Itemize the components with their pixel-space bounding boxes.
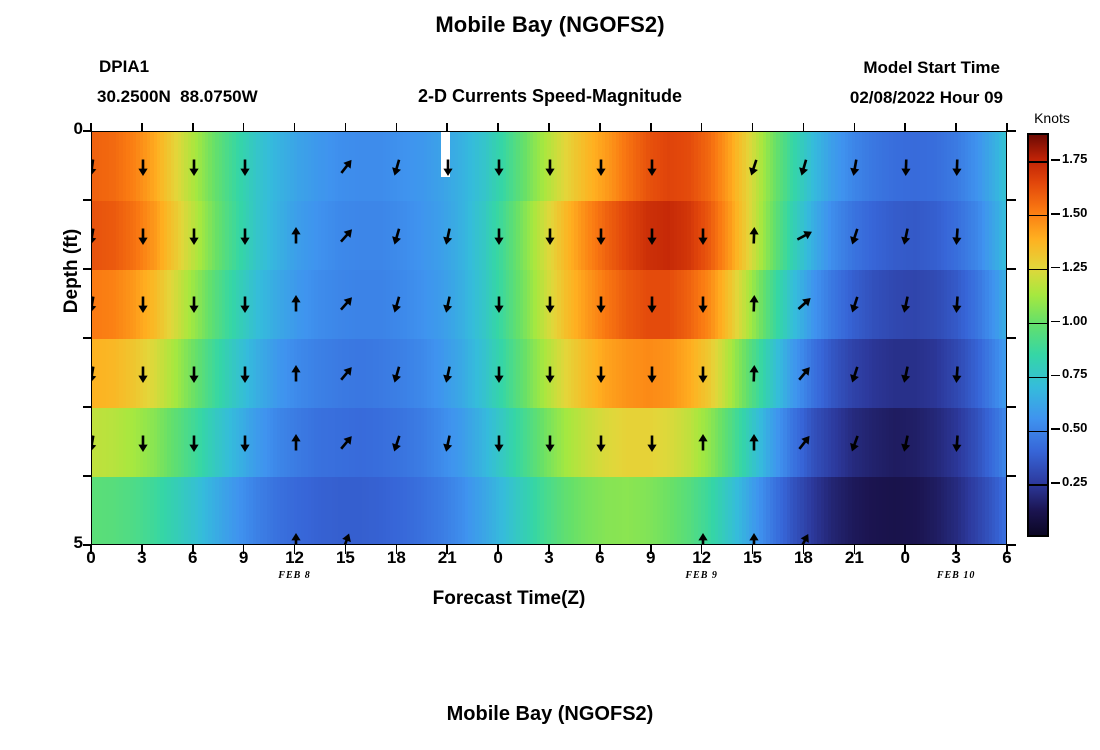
y-axis-minor-tick	[83, 337, 92, 339]
x-axis-tick-top	[243, 123, 245, 132]
x-axis-tick	[955, 545, 957, 554]
x-axis-tick	[752, 545, 754, 554]
colorbar-tick-label: 1.25	[1062, 259, 1100, 274]
colorbar-tick	[1051, 321, 1060, 323]
x-axis-tick-top	[904, 123, 906, 132]
x-axis-day-label: FEB 9	[657, 570, 747, 581]
x-axis-tick-top	[141, 123, 143, 132]
x-axis-tick-top	[446, 123, 448, 132]
x-axis-tick	[396, 545, 398, 554]
x-axis-tick-top	[599, 123, 601, 132]
x-axis-tick	[497, 545, 499, 554]
colorbar-tick-label: 0.50	[1062, 420, 1100, 435]
colorbar-separator	[1029, 484, 1047, 485]
colorbar-tick	[1051, 213, 1060, 215]
x-axis-tick-top	[752, 123, 754, 132]
heatmap-depth-band	[92, 270, 1006, 339]
x-axis-tick-top	[192, 123, 194, 132]
colorbar-separator	[1029, 323, 1047, 324]
missing-data-gap	[441, 132, 449, 177]
x-axis-tick	[904, 545, 906, 554]
colorbar-separator	[1029, 161, 1047, 162]
x-axis-tick-top	[396, 123, 398, 132]
x-axis-tick-top	[650, 123, 652, 132]
heatmap-depth-band	[92, 339, 1006, 408]
x-axis-label: Forecast Time(Z)	[0, 588, 1018, 610]
x-axis-tick-top	[548, 123, 550, 132]
x-axis-tick-top	[345, 123, 347, 132]
x-axis-day-label: FEB 8	[250, 570, 340, 581]
colorbar-tick-label: 1.00	[1062, 313, 1100, 328]
x-axis-tick	[1006, 545, 1008, 554]
colorbar[interactable]	[1027, 133, 1049, 537]
y-axis-minor-tick-right	[1007, 406, 1016, 408]
y-axis-tick	[83, 544, 92, 546]
x-axis-day-label: FEB 10	[911, 570, 1001, 581]
x-axis-tick	[650, 545, 652, 554]
y-axis-tick-label: 0	[57, 119, 83, 139]
x-axis-tick	[192, 545, 194, 554]
x-axis-tick	[345, 545, 347, 554]
x-axis-tick	[803, 545, 805, 554]
heatmap-depth-band	[92, 132, 1006, 201]
heatmap-plot-area[interactable]	[91, 131, 1007, 545]
y-axis-minor-tick	[83, 268, 92, 270]
x-axis-tick	[446, 545, 448, 554]
x-axis-tick	[90, 545, 92, 554]
x-axis-tick	[854, 545, 856, 554]
y-axis-minor-tick-right	[1007, 268, 1016, 270]
colorbar-tick-label: 0.25	[1062, 474, 1100, 489]
colorbar-tick	[1051, 375, 1060, 377]
colorbar-tick	[1051, 159, 1060, 161]
model-start-time-label: Model Start Time	[863, 58, 1000, 78]
y-axis-minor-tick	[83, 475, 92, 477]
x-axis-tick	[294, 545, 296, 554]
figure-canvas: Mobile Bay (NGOFS2) DPIA1 30.2500N 88.07…	[0, 0, 1100, 750]
colorbar-separator	[1029, 431, 1047, 432]
x-axis-tick-top	[701, 123, 703, 132]
y-axis-tick-right	[1007, 130, 1016, 132]
colorbar-gradient	[1029, 135, 1047, 535]
y-axis-minor-tick	[83, 406, 92, 408]
colorbar-tick-label: 1.50	[1062, 205, 1100, 220]
x-axis-tick-top	[497, 123, 499, 132]
y-axis-tick-right	[1007, 544, 1016, 546]
x-axis-tick-top	[803, 123, 805, 132]
colorbar-separator	[1029, 377, 1047, 378]
footer-title: Mobile Bay (NGOFS2)	[0, 703, 1100, 726]
colorbar-separator	[1029, 269, 1047, 270]
x-axis-tick	[599, 545, 601, 554]
colorbar-title: Knots	[1014, 110, 1090, 126]
x-axis-tick-top	[854, 123, 856, 132]
x-axis-tick-top	[955, 123, 957, 132]
x-axis-tick	[141, 545, 143, 554]
x-axis-tick-top	[294, 123, 296, 132]
y-axis-minor-tick-right	[1007, 475, 1016, 477]
heatmap-depth-band	[92, 477, 1006, 545]
colorbar-tick-label: 1.75	[1062, 151, 1100, 166]
heatmap-depth-band	[92, 201, 1006, 270]
y-axis-minor-tick	[83, 199, 92, 201]
colorbar-tick-label: 0.75	[1062, 366, 1100, 381]
colorbar-tick	[1051, 267, 1060, 269]
y-axis-tick-label: 5	[57, 533, 83, 553]
page-title: Mobile Bay (NGOFS2)	[0, 12, 1100, 38]
colorbar-tick	[1051, 482, 1060, 484]
colorbar-tick	[1051, 428, 1060, 430]
colorbar-separator	[1029, 215, 1047, 216]
x-axis-tick	[701, 545, 703, 554]
x-axis-tick	[243, 545, 245, 554]
y-axis-minor-tick-right	[1007, 337, 1016, 339]
y-axis-tick	[83, 130, 92, 132]
station-id-label: DPIA1	[99, 57, 149, 77]
y-axis-label: Depth (ft)	[61, 191, 83, 351]
heatmap-depth-band	[92, 408, 1006, 477]
x-axis-tick	[548, 545, 550, 554]
y-axis-minor-tick-right	[1007, 199, 1016, 201]
model-start-time-value: 02/08/2022 Hour 09	[850, 88, 1003, 108]
